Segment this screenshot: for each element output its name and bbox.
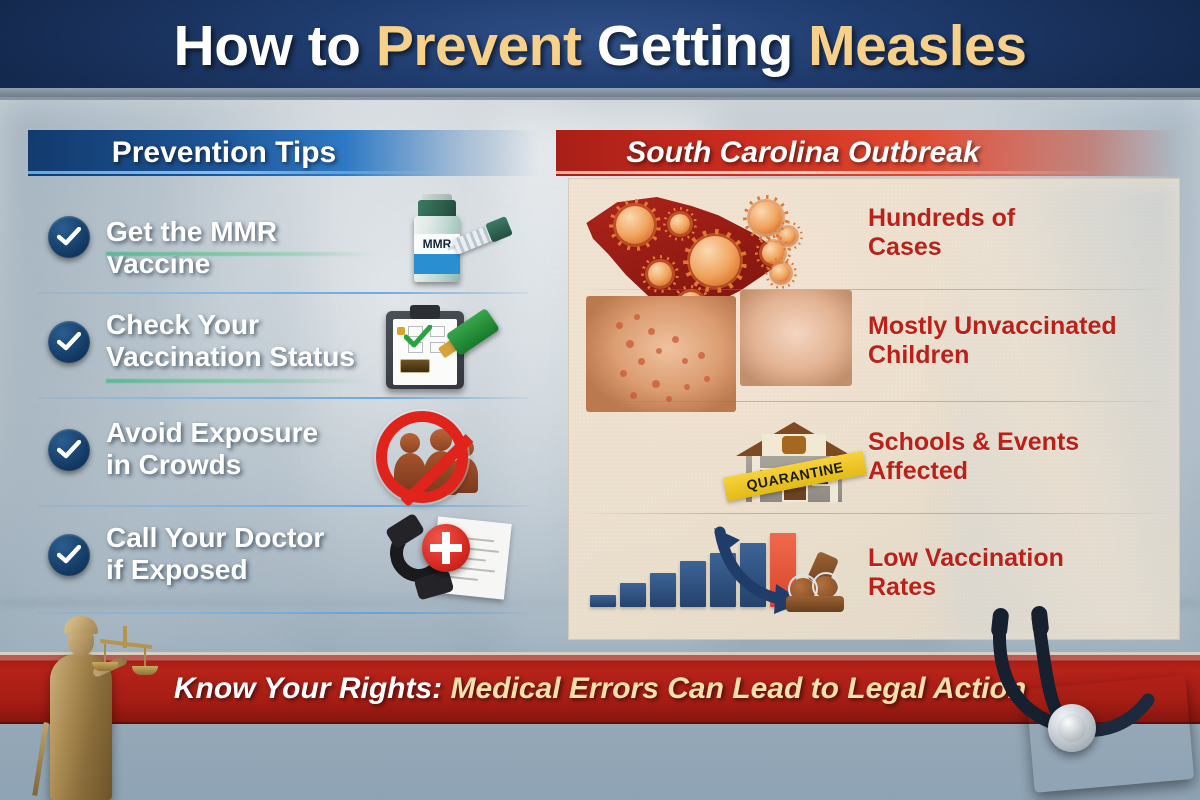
tip-label-line-2: in Crowds [106, 449, 241, 480]
tip-label-line-1: Avoid Exposure [106, 417, 318, 448]
banner-tail: Medical Errors Can Lead to Legal Action [451, 672, 1027, 705]
outbreak-fact-line-1: Schools & Events [868, 428, 1079, 456]
tip-separator [38, 505, 528, 507]
outbreak-header: South Carolina Outbreak [556, 130, 1180, 176]
tip-label: Check Your Vaccination Status [106, 309, 366, 373]
title-segment-1: How to [174, 14, 376, 78]
no-crowds-prohibition-icon [368, 403, 508, 499]
check-icon [48, 216, 90, 258]
tip-item-avoid-crowds[interactable]: Avoid Exposure in Crowds [28, 403, 548, 507]
banner-lead: Know Your Rights: [174, 672, 442, 705]
outbreak-panel: QUARANTINE [568, 178, 1180, 640]
outbreak-fact-mostly-unvaccinated-children[interactable]: Mostly Unvaccinated Children [568, 290, 1180, 402]
outbreak-fact-line-1: Low Vaccination [868, 544, 1064, 572]
tip-separator [38, 292, 528, 294]
stethoscope-tubing [952, 604, 1192, 794]
tip-label: Get the MMR Vaccine [106, 216, 366, 280]
prevention-tips-header: Prevention Tips [28, 130, 540, 176]
outbreak-fact-label: Mostly Unvaccinated Children [868, 312, 1168, 370]
outbreak-fact-schools-events-affected[interactable]: Schools & Events Affected [568, 402, 1180, 514]
telephone-medical-cross-icon [378, 510, 528, 606]
tip-label-line-2: Vaccination Status [106, 341, 355, 372]
tip-label-line-2: if Exposed [106, 554, 248, 585]
check-icon [48, 534, 90, 576]
tip-item-mmr-vaccine[interactable]: Get the MMR Vaccine MMR [28, 190, 548, 294]
tip-underline [106, 252, 374, 256]
outbreak-fact-line-1: Mostly Unvaccinated [868, 312, 1117, 340]
stethoscope-icon [952, 604, 1192, 794]
tip-label-line-1: Check Your [106, 309, 259, 340]
tip-underline [106, 379, 368, 383]
outbreak-fact-line-1: Hundreds of [868, 204, 1015, 232]
title-bar: How to Prevent Getting Measles [0, 0, 1200, 100]
vaccine-vial-syringe-icon: MMR [386, 194, 526, 290]
outbreak-fact-label: Schools & Events Affected [868, 428, 1168, 486]
check-icon [48, 429, 90, 471]
outbreak-fact-label: Hundreds of Cases [868, 204, 1168, 262]
outbreak-fact-line-2: Cases [868, 233, 942, 261]
tip-label: Call Your Doctor if Exposed [106, 522, 366, 586]
page-title: How to Prevent Getting Measles [0, 14, 1200, 78]
tip-separator [38, 397, 528, 399]
outbreak-fact-line-2: Affected [868, 457, 968, 485]
infographic-poster: How to Prevent Getting Measles Preventio… [0, 0, 1200, 800]
title-segment-3: Getting [581, 14, 808, 78]
title-segment-4: Measles [808, 14, 1026, 78]
outbreak-fact-label: Low Vaccination Rates [868, 544, 1168, 602]
outbreak-fact-line-2: Rates [868, 573, 936, 601]
lady-justice-statue [20, 596, 144, 800]
tip-item-check-vaccination-status[interactable]: Check Your Vaccination Status [28, 295, 548, 399]
prevention-tips-list: Get the MMR Vaccine MMR [28, 190, 548, 635]
title-segment-2: Prevent [376, 14, 582, 78]
clipboard-checklist-icon [374, 299, 514, 395]
check-icon [48, 321, 90, 363]
tip-label: Avoid Exposure in Crowds [106, 417, 366, 481]
outbreak-fact-hundreds-of-cases[interactable]: Hundreds of Cases [568, 178, 1180, 290]
outbreak-fact-line-2: Children [868, 341, 969, 369]
tip-label-line-1: Call Your Doctor [106, 522, 324, 553]
